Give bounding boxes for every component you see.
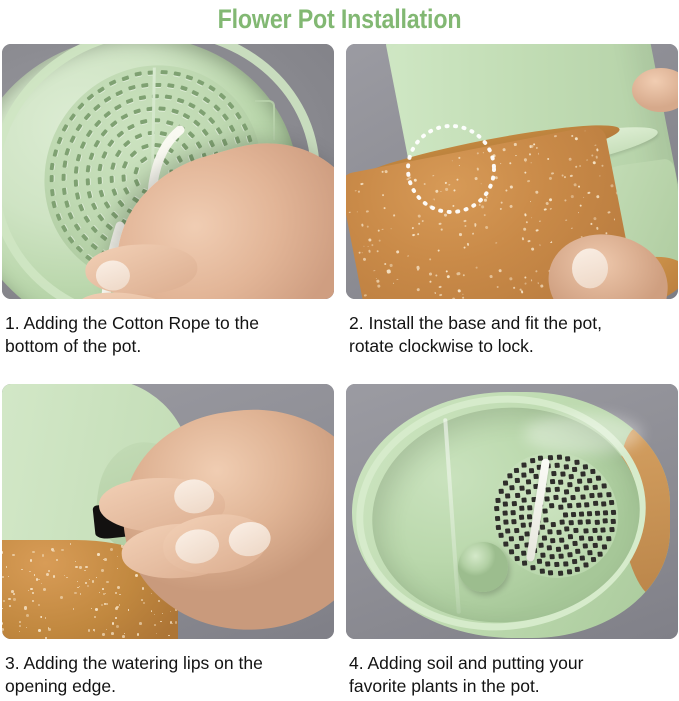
speckle bbox=[106, 603, 108, 605]
step-3-photo bbox=[2, 384, 334, 639]
speckle bbox=[102, 588, 104, 590]
speckle bbox=[42, 554, 44, 556]
speckle bbox=[143, 602, 145, 604]
speckle bbox=[32, 592, 33, 593]
speckle bbox=[92, 580, 94, 582]
speckle bbox=[29, 571, 31, 573]
speckle bbox=[158, 600, 160, 602]
speckle bbox=[60, 596, 63, 599]
speckle bbox=[154, 624, 156, 626]
step-card-3: 3. Adding the watering lips on the openi… bbox=[2, 384, 334, 698]
speckle bbox=[119, 604, 121, 606]
speckle bbox=[79, 586, 80, 587]
speckle bbox=[13, 598, 15, 600]
speckle bbox=[151, 593, 152, 594]
speckle bbox=[80, 593, 82, 595]
step-1-photo bbox=[2, 44, 334, 299]
speckle bbox=[87, 585, 89, 587]
speckle bbox=[162, 613, 163, 614]
speckle bbox=[8, 598, 10, 600]
speckle bbox=[11, 590, 14, 593]
speckle bbox=[135, 574, 138, 577]
speckle bbox=[34, 574, 36, 576]
speckle bbox=[70, 543, 71, 544]
speckle bbox=[97, 553, 99, 555]
speckle bbox=[3, 600, 5, 602]
speckle bbox=[19, 621, 21, 623]
speckle bbox=[106, 581, 108, 583]
speckle bbox=[38, 579, 40, 581]
step-3-caption: 3. Adding the watering lips on the openi… bbox=[2, 652, 334, 698]
speckle bbox=[94, 631, 95, 632]
speckle bbox=[64, 575, 65, 576]
speckle bbox=[117, 556, 118, 557]
speckle bbox=[8, 576, 9, 577]
speckle bbox=[110, 548, 113, 551]
speckle bbox=[45, 617, 47, 619]
speckle bbox=[2, 551, 3, 554]
page-title: Flower Pot Installation bbox=[48, 2, 632, 36]
speckle bbox=[61, 549, 63, 551]
step-card-4: 4. Adding soil and putting your favorite… bbox=[346, 384, 678, 698]
speckle bbox=[115, 617, 117, 619]
speckle bbox=[75, 561, 76, 562]
step-1-caption: 1. Adding the Cotton Rope to the bottom … bbox=[2, 312, 334, 358]
speckle bbox=[104, 603, 105, 604]
speckle bbox=[79, 566, 81, 568]
locking-knob bbox=[458, 542, 508, 592]
speckle bbox=[102, 633, 104, 635]
speckle bbox=[6, 566, 8, 568]
speckle bbox=[94, 616, 97, 619]
speckle bbox=[119, 594, 121, 596]
speckle bbox=[46, 573, 49, 576]
speckle bbox=[95, 608, 98, 611]
speckle bbox=[43, 588, 46, 591]
speckle bbox=[2, 608, 3, 609]
speckle bbox=[45, 637, 47, 639]
speckle bbox=[41, 583, 42, 584]
speckle bbox=[89, 579, 90, 580]
speckle bbox=[77, 587, 78, 588]
speckle bbox=[30, 559, 32, 561]
speckle bbox=[30, 588, 32, 590]
speckle bbox=[77, 581, 78, 582]
step-2-caption: 2. Install the base and fit the pot, rot… bbox=[346, 312, 678, 358]
speckle bbox=[96, 577, 97, 578]
speckle bbox=[26, 627, 27, 628]
steps-grid: 1. Adding the Cotton Rope to the bottom … bbox=[0, 44, 679, 701]
speckle bbox=[106, 629, 107, 630]
speckle bbox=[38, 629, 41, 632]
highlight-gloss bbox=[524, 414, 642, 454]
step-4-caption: 4. Adding soil and putting your favorite… bbox=[346, 652, 678, 698]
speckle bbox=[105, 593, 106, 594]
speckle bbox=[74, 592, 77, 595]
speckle bbox=[141, 599, 143, 601]
speckle bbox=[53, 575, 56, 578]
speckle bbox=[139, 622, 142, 625]
speckle bbox=[73, 608, 74, 609]
speckle bbox=[160, 621, 161, 622]
speckle bbox=[168, 635, 170, 637]
speckle bbox=[2, 576, 4, 579]
speckle bbox=[117, 586, 120, 589]
speckle bbox=[2, 622, 3, 625]
speckle bbox=[66, 577, 68, 579]
speckle bbox=[115, 592, 117, 594]
speckle bbox=[122, 635, 125, 638]
speckle bbox=[9, 605, 11, 607]
step-4-photo bbox=[346, 384, 678, 639]
speckle bbox=[104, 558, 107, 561]
speckle bbox=[32, 600, 34, 602]
speckle bbox=[19, 625, 21, 627]
step-card-2: 2. Install the base and fit the pot, rot… bbox=[346, 44, 678, 358]
speckle bbox=[12, 554, 15, 557]
speckle bbox=[26, 614, 29, 617]
instruction-sheet: Flower Pot Installation bbox=[0, 0, 679, 701]
speckle bbox=[38, 604, 40, 606]
speckle bbox=[142, 587, 144, 589]
speckle bbox=[41, 616, 42, 617]
speckle bbox=[24, 606, 27, 609]
speckle bbox=[21, 569, 23, 571]
speckle bbox=[48, 628, 51, 631]
speckle bbox=[111, 632, 114, 635]
speckle bbox=[56, 559, 59, 562]
speckle bbox=[128, 609, 129, 610]
speckle bbox=[2, 631, 3, 633]
speckle bbox=[175, 621, 177, 623]
speckle bbox=[101, 569, 104, 572]
speckle bbox=[112, 622, 115, 625]
speckle bbox=[117, 568, 118, 569]
step-2-photo bbox=[346, 44, 678, 299]
speckle bbox=[84, 570, 86, 572]
speckle bbox=[151, 611, 152, 612]
speckle bbox=[172, 623, 173, 624]
speckle bbox=[75, 566, 78, 569]
speckle bbox=[99, 592, 100, 593]
speckle bbox=[116, 625, 119, 628]
speckle bbox=[85, 582, 88, 585]
speckle bbox=[19, 631, 20, 632]
speckle bbox=[124, 633, 125, 634]
speckle bbox=[154, 614, 155, 615]
speckle bbox=[156, 633, 157, 634]
dotted-circle-highlight bbox=[346, 44, 678, 299]
speckle bbox=[32, 551, 35, 554]
speckle bbox=[28, 590, 29, 591]
speckle bbox=[85, 566, 87, 568]
speckle bbox=[137, 633, 140, 636]
speckle bbox=[88, 629, 91, 632]
speckle bbox=[101, 604, 104, 607]
speckle bbox=[170, 611, 171, 612]
speckle bbox=[91, 608, 92, 609]
speckle bbox=[48, 570, 50, 572]
speckle bbox=[13, 593, 15, 595]
step-card-1: 1. Adding the Cotton Rope to the bottom … bbox=[2, 44, 334, 358]
